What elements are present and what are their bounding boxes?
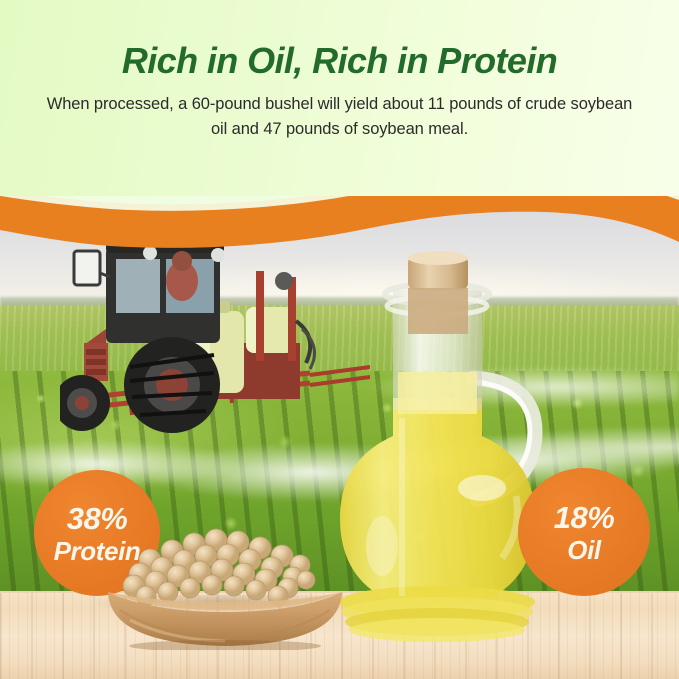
soybean-bowl-illustration: [100, 520, 350, 650]
header-panel: Rich in Oil, Rich in Protein When proces…: [0, 0, 679, 196]
badge-oil-percent: 18%: [554, 502, 615, 533]
oil-bottle-illustration: [330, 250, 555, 660]
page-title: Rich in Oil, Rich in Protein: [0, 40, 679, 82]
infographic-poster: 38% Protein 18% Oil: [0, 0, 679, 679]
page-subtitle: When processed, a 60-pound bushel will y…: [40, 92, 639, 142]
badge-oil-label: Oil: [567, 537, 600, 563]
badge-oil: 18% Oil: [518, 468, 650, 596]
